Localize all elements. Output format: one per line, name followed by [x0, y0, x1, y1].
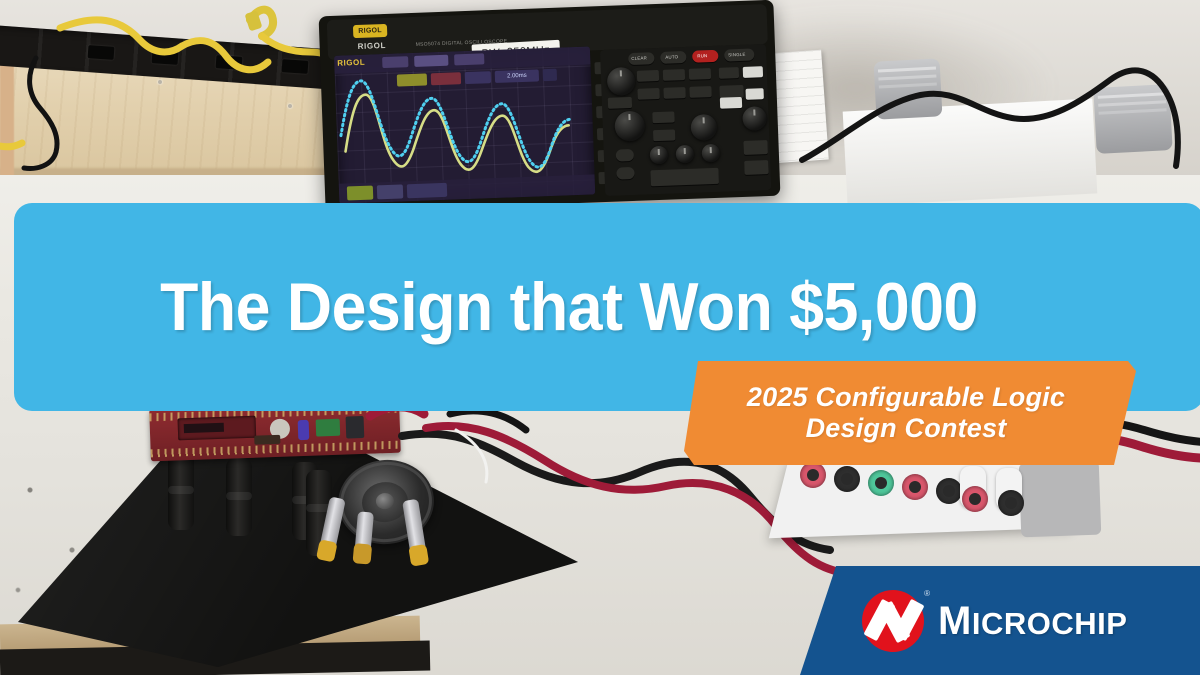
scope-menu-button[interactable] — [414, 55, 448, 67]
channel-knob[interactable] — [676, 145, 695, 164]
panel-button[interactable] — [689, 68, 711, 80]
banana-jack-red[interactable] — [962, 486, 988, 512]
multipurpose-knob[interactable] — [607, 67, 636, 96]
banana-jack-red[interactable] — [902, 474, 928, 500]
channel-button[interactable] — [616, 167, 634, 180]
brand-lockup: ® MICROCHIP — [862, 566, 1127, 675]
scope-brand-text: RIGOL — [358, 41, 387, 51]
scope-screen-logo: RIGOL — [337, 58, 365, 68]
banana-jack-green[interactable] — [868, 470, 894, 496]
brand-wordmark: MICROCHIP — [938, 601, 1127, 641]
scope-timebase-readout: 2.00ms — [495, 69, 539, 83]
oscilloscope: RIGOL RIGOL MSO5074 DIGITAL OSCILLOSCOPE… — [319, 0, 781, 212]
scope-brand-badge: RIGOL — [353, 24, 387, 38]
panel-button[interactable] — [608, 97, 632, 109]
scope-status-chip — [377, 184, 403, 199]
subtitle-banner: 2025 Configurable Logic Design Contest — [676, 361, 1136, 465]
video-thumbnail: RIGOL RIGOL MSO5074 DIGITAL OSCILLOSCOPE… — [0, 0, 1200, 675]
scope-status-chip — [407, 183, 447, 198]
panel-button-light[interactable] — [743, 66, 763, 78]
single-button-label: SINGLE — [728, 52, 745, 58]
capacitor — [298, 420, 310, 440]
brand-banner: ® MICROCHIP — [800, 566, 1200, 675]
clear-button-label: CLEAR — [631, 55, 647, 61]
default-button[interactable] — [720, 97, 742, 109]
panel-button[interactable] — [743, 140, 767, 155]
panel-button[interactable] — [653, 129, 675, 141]
banana-jack-black[interactable] — [936, 478, 962, 504]
subtitle-line-1: 2025 Configurable Logic — [747, 382, 1065, 413]
probe-connectors[interactable] — [650, 168, 719, 186]
run-button-label: RUN — [697, 53, 707, 58]
scope-channel-chip[interactable] — [465, 71, 491, 84]
panel-button[interactable] — [719, 67, 739, 79]
scope-screen: RIGOL 2.00ms — [334, 46, 595, 203]
standoff — [168, 452, 194, 530]
panel-button-light[interactable] — [746, 88, 764, 100]
banana-jack-red[interactable] — [800, 462, 826, 488]
panel-button[interactable] — [663, 69, 685, 81]
channel-knob[interactable] — [650, 146, 669, 165]
scope-menu-button[interactable] — [382, 56, 408, 68]
mcu-module — [178, 416, 257, 441]
scope-menu-button[interactable] — [454, 53, 484, 65]
registered-mark: ® — [924, 589, 930, 598]
brand-wordmark-rest: ICROCHIP — [972, 606, 1128, 641]
horizontal-scale-knob[interactable] — [614, 111, 645, 142]
scope-channel-chip[interactable] — [431, 72, 461, 85]
channel-knob[interactable] — [702, 144, 721, 163]
scope-status-chip — [347, 186, 373, 201]
scope-channel-chip[interactable] — [397, 73, 427, 86]
resistor — [254, 435, 280, 445]
banana-jack-black[interactable] — [834, 466, 860, 492]
panel-button[interactable] — [652, 111, 674, 123]
vertical-scale-knob[interactable] — [690, 114, 717, 141]
panel-button[interactable] — [637, 88, 659, 100]
channel-button[interactable] — [616, 149, 634, 162]
standoff — [226, 458, 252, 536]
panel-button[interactable] — [744, 160, 768, 175]
panel-button[interactable] — [689, 86, 711, 98]
microchip-m-logo-icon: ® — [862, 590, 924, 652]
trigger-level-knob[interactable] — [742, 106, 767, 131]
scope-trigger-chip[interactable] — [543, 69, 557, 82]
scope-control-panel: CLEAR AUTO RUN SINGLE — [600, 44, 771, 196]
subtitle-text-wrap: 2025 Configurable Logic Design Contest — [676, 361, 1136, 465]
subtitle-line-2: Design Contest — [806, 413, 1007, 444]
panel-button[interactable] — [663, 87, 685, 99]
panel-button[interactable] — [637, 70, 659, 82]
brand-wordmark-initial: M — [938, 599, 972, 643]
auto-button-label: AUTO — [665, 54, 678, 59]
